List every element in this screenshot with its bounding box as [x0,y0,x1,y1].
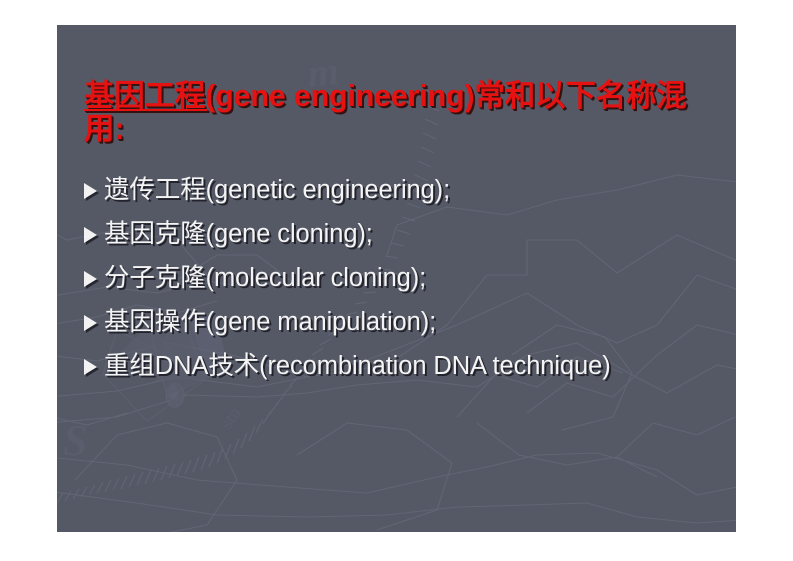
list-item-label: 重组DNA技术(recombination DNA technique) [104,344,732,388]
list-item: 重组DNA技术(recombination DNA technique) [82,344,732,388]
pdf-page: S m sta 基因工程(gene engineering)常和以下名称混用: … [0,0,793,561]
list-item: 基因操作(gene manipulation); [82,300,732,344]
triangle-bullet-icon [82,168,104,212]
triangle-bullet-icon [82,212,104,256]
list-item-label: 基因克隆(gene cloning); [104,212,732,256]
list-item-label: 分子克隆(molecular cloning); [104,256,732,300]
list-item: 分子克隆(molecular cloning); [82,256,732,300]
triangle-bullet-icon [82,256,104,300]
slide-content: 基因工程(gene engineering)常和以下名称混用: 遗传工程(gen… [57,25,736,532]
list-item: 遗传工程(genetic engineering); [82,168,732,212]
list-item-label: 遗传工程(genetic engineering); [104,168,732,212]
triangle-bullet-icon [82,344,104,388]
list-item-label: 基因操作(gene manipulation); [104,300,732,344]
list-item: 基因克隆(gene cloning); [82,212,732,256]
slide-title-underlined-part: 基因工程( [84,79,215,113]
presentation-slide: S m sta 基因工程(gene engineering)常和以下名称混用: … [57,25,736,532]
bullet-list: 遗传工程(genetic engineering); 基因克隆(gene clo… [82,168,732,388]
triangle-bullet-icon [82,300,104,344]
slide-title: 基因工程(gene engineering)常和以下名称混用: [84,80,724,146]
